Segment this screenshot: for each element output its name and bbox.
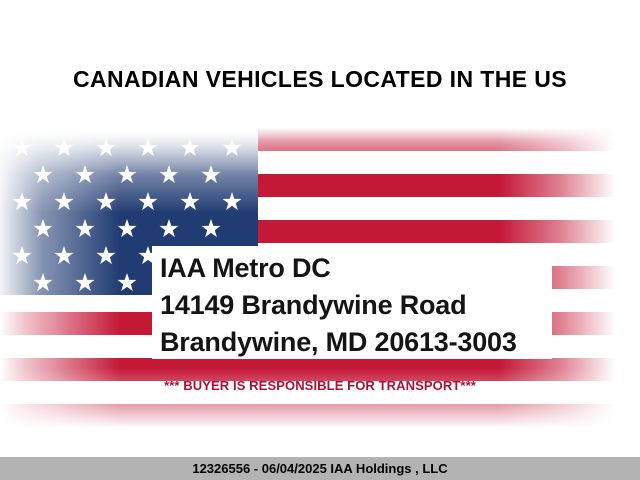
city-state-zip: Brandywine, MD 20613-3003 — [160, 327, 517, 358]
branch-name: IAA Metro DC — [160, 253, 331, 284]
footer-bar: 12326556 - 06/04/2025 IAA Holdings , LLC — [0, 457, 640, 480]
flag-stripe-red — [0, 404, 640, 427]
street-address: 14149 Brandywine Road — [160, 290, 466, 321]
address-panel: IAA Metro DC 14149 Brandywine Road Brand… — [152, 246, 552, 359]
page-title: CANADIAN VEHICLES LOCATED IN THE US — [0, 66, 640, 93]
transport-notice: *** BUYER IS RESPONSIBLE FOR TRANSPORT**… — [0, 378, 640, 393]
footer-text: 12326556 - 06/04/2025 IAA Holdings , LLC — [0, 461, 640, 476]
stock-image-slide: CANADIAN VEHICLES LOCATED IN THE US — [0, 0, 640, 480]
